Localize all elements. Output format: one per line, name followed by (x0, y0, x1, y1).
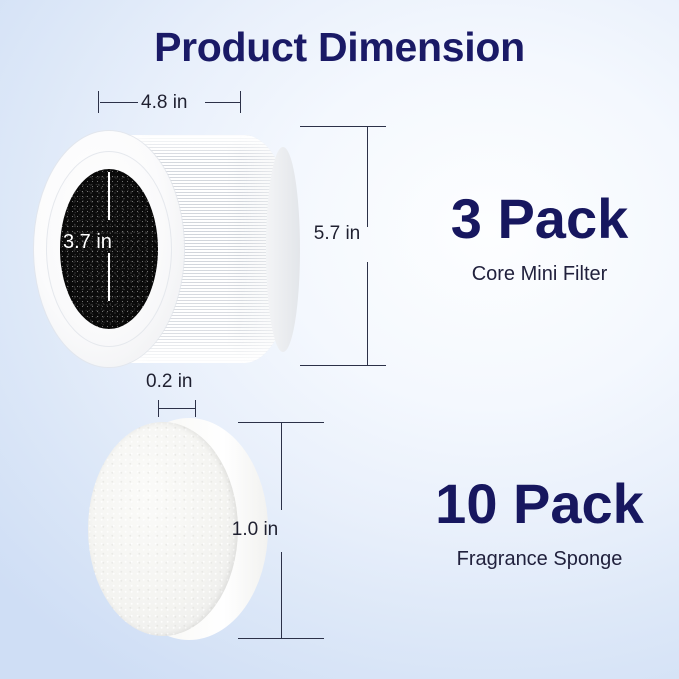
dim-label-sponge-thickness: 0.2 in (146, 371, 192, 393)
filter-far-rim (266, 147, 300, 352)
dim-label-sponge-diameter: 1.0 in (232, 519, 278, 541)
dim-height-filter-line-lower (367, 262, 368, 366)
page-title: Product Dimension (0, 24, 679, 71)
dim-diameter-sponge-line-lower (281, 552, 282, 639)
dim-width-filter-cap-left (98, 91, 99, 113)
dim-diameter-sponge-line-upper (281, 422, 282, 510)
dim-width-filter-cap-right (240, 91, 241, 113)
product-dimension-infographic: Product Dimension 4.8 in 5.7 in 3.7 in 3… (0, 0, 679, 679)
dim-height-filter-line-upper (367, 126, 368, 227)
dim-width-filter-line-left (100, 102, 138, 103)
pack-count-10-pack: 10 Pack (400, 475, 679, 534)
product-name-core-mini-filter: Core Mini Filter (400, 263, 679, 286)
pack-count-3-pack: 3 Pack (400, 190, 679, 249)
product-label-fragrance-sponge: 10 Pack Fragrance Sponge (400, 475, 679, 571)
product-name-fragrance-sponge: Fragrance Sponge (400, 548, 679, 571)
dim-thickness-line (158, 408, 196, 409)
dim-inner-diameter-line-lower (108, 253, 110, 301)
product-label-core-mini-filter: 3 Pack Core Mini Filter (400, 190, 679, 286)
sponge-front-face (88, 422, 238, 636)
dim-width-filter-line-right (205, 102, 240, 103)
dim-height-filter-ext-top (300, 126, 386, 127)
dim-label-filter-inner-diameter: 3.7 in (63, 231, 112, 254)
dim-label-filter-height: 5.7 in (314, 223, 360, 245)
dim-label-filter-width: 4.8 in (141, 92, 187, 114)
dim-inner-diameter-line-upper (108, 172, 110, 220)
dim-height-filter-ext-bottom (300, 365, 386, 366)
